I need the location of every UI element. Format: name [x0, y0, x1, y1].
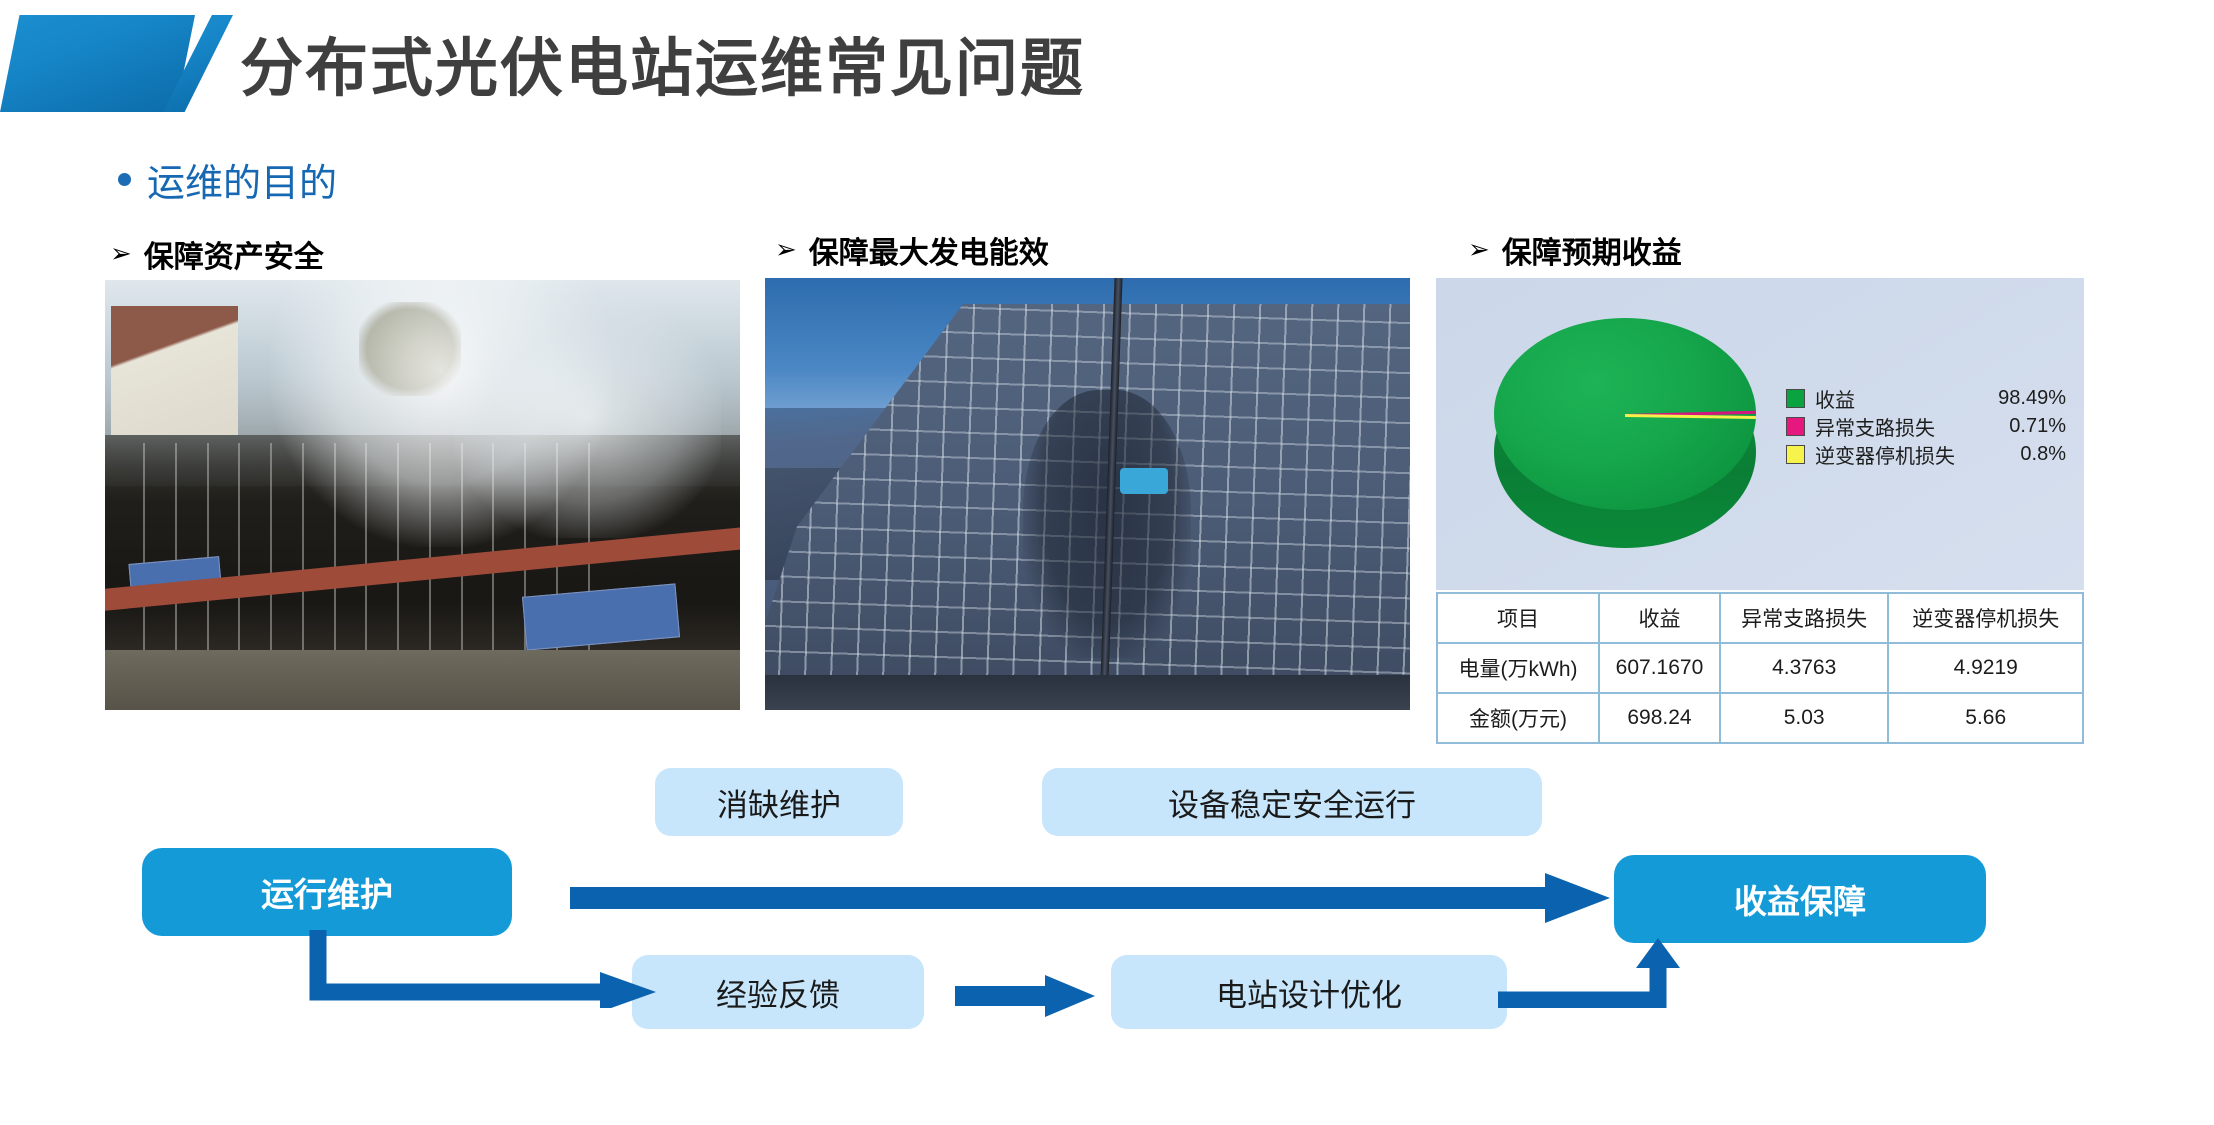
header-decoration	[0, 15, 230, 112]
table-row: 金额(万元) 698.24 5.03 5.66	[1437, 693, 2083, 743]
pie-3d-top	[1494, 318, 1756, 510]
flow-box-experience-feedback: 经验反馈	[632, 955, 924, 1029]
arrow-bullet-icon: ➢	[775, 237, 797, 263]
photo-truss	[175, 443, 177, 649]
bullet-row: 运维的目的	[118, 152, 337, 207]
table-cell: 5.66	[1888, 693, 2083, 743]
legend-swatch-icon	[1786, 417, 1805, 436]
revenue-pie-chart-panel: 收益 98.49% 异常支路损失 0.71% 逆变器停机损失 0.8%	[1436, 278, 2084, 590]
arrow-right-feedback-icon	[955, 975, 1095, 1017]
elbow-arrow-down-right-icon	[288, 930, 656, 1008]
table-row: 电量(万kWh) 607.1670 4.3763 4.9219	[1437, 643, 2083, 693]
table-row-label: 金额(万元)	[1437, 693, 1599, 743]
legend-label: 异常支路损失	[1815, 412, 1935, 441]
photo-truss	[238, 443, 240, 649]
legend-item-inverter-downtime-loss: 逆变器停机损失 0.8%	[1786, 440, 2066, 468]
page-title: 分布式光伏电站运维常见问题	[240, 18, 1085, 109]
header-parallelogram-large	[0, 15, 195, 112]
legend-item-revenue: 收益 98.49%	[1786, 384, 2066, 412]
elbow-arrow-up-icon	[1498, 938, 1698, 1008]
bullet-label: 运维的目的	[147, 152, 337, 207]
revenue-data-table: 项目 收益 异常支路损失 逆变器停机损失 电量(万kWh) 607.1670 4…	[1436, 592, 2084, 744]
section-heading-expected-revenue: ➢ 保障预期收益	[1468, 228, 1682, 272]
table-header-cell: 异常支路损失	[1720, 593, 1889, 643]
section-heading-max-generation: ➢ 保障最大发电能效	[775, 228, 1049, 272]
photo-ground-region	[765, 675, 1410, 710]
pie-chart	[1486, 298, 1766, 570]
legend-item-abnormal-branch-loss: 异常支路损失 0.71%	[1786, 412, 2066, 440]
pie-chart-legend: 收益 98.49% 异常支路损失 0.71% 逆变器停机损失 0.8%	[1786, 384, 2066, 468]
photo-house-region	[111, 306, 238, 435]
legend-label: 收益	[1815, 384, 1855, 413]
table-cell: 4.3763	[1720, 643, 1889, 693]
table-header-cell: 逆变器停机损失	[1888, 593, 2083, 643]
table-cell: 5.03	[1720, 693, 1889, 743]
flow-box-revenue-assurance: 收益保障	[1614, 855, 1986, 943]
section-heading-label: 保障资产安全	[144, 232, 324, 276]
table-header-cell: 收益	[1599, 593, 1720, 643]
legend-swatch-icon	[1786, 389, 1805, 408]
arrow-bullet-icon: ➢	[110, 241, 132, 267]
table-cell: 607.1670	[1599, 643, 1720, 693]
photo-truss	[207, 443, 209, 649]
pie-slice-inverter-downtime-loss	[1625, 414, 1756, 419]
table-cell: 698.24	[1599, 693, 1720, 743]
section-heading-label: 保障预期收益	[1502, 228, 1682, 272]
legend-value: 0.71%	[2009, 415, 2066, 438]
photo-truss	[143, 443, 145, 649]
arrow-right-main-icon	[570, 873, 1610, 923]
section-heading-asset-safety: ➢ 保障资产安全	[110, 232, 324, 276]
bullet-dot-icon	[118, 173, 131, 186]
section-heading-label: 保障最大发电能效	[809, 228, 1049, 272]
legend-value: 98.49%	[1998, 387, 2066, 410]
table-header-row: 项目 收益 异常支路损失 逆变器停机损失	[1437, 593, 2083, 643]
table-cell: 4.9219	[1888, 643, 2083, 693]
flow-box-plant-design-optimization: 电站设计优化	[1111, 955, 1507, 1029]
photo-ground-region	[105, 650, 740, 710]
legend-swatch-icon	[1786, 445, 1805, 464]
photo-smoke-plume	[454, 297, 721, 538]
photo-solar-panel-cleaning	[765, 278, 1410, 710]
flow-box-operation-maintenance: 运行维护	[142, 848, 512, 936]
photo-rooftop-fire	[105, 280, 740, 710]
flow-box-stable-safe-operation: 设备稳定安全运行	[1042, 768, 1542, 836]
table-row-label: 电量(万kWh)	[1437, 643, 1599, 693]
table-header-cell: 项目	[1437, 593, 1599, 643]
photo-cleaning-brush	[1120, 468, 1168, 494]
flow-box-defect-maintenance: 消缺维护	[655, 768, 903, 836]
legend-value: 0.8%	[2020, 443, 2066, 466]
legend-label: 逆变器停机损失	[1815, 440, 1955, 469]
arrow-bullet-icon: ➢	[1468, 237, 1490, 263]
